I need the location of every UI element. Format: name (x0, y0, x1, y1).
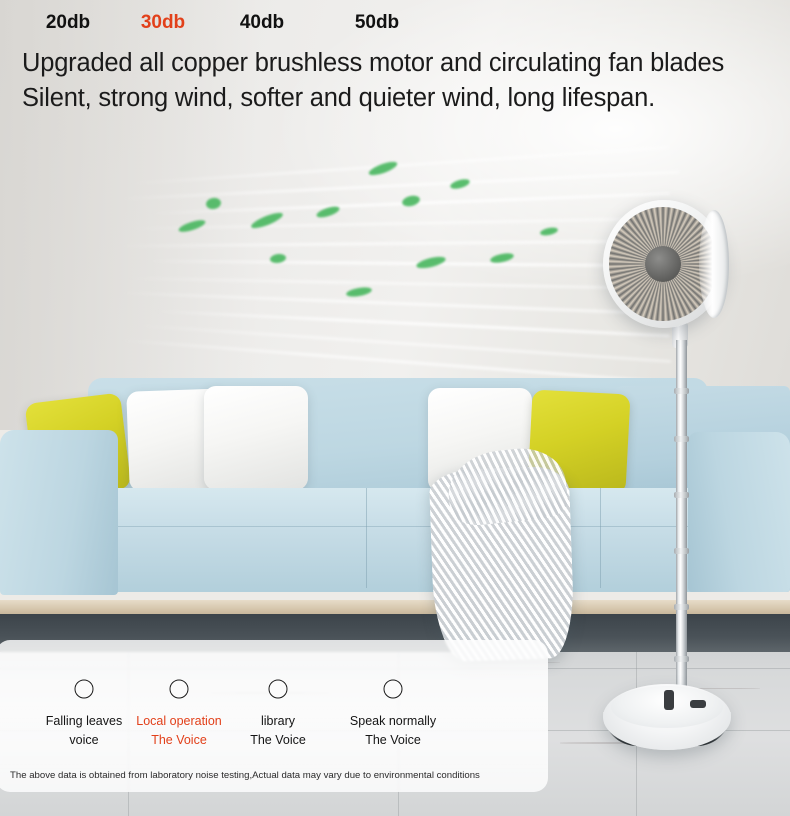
leaf-icon (367, 159, 398, 178)
noise-marker-40db[interactable] (269, 680, 288, 699)
airflow-streak (128, 277, 674, 290)
headline-line-2: Silent, strong wind, softer and quieter … (22, 81, 767, 116)
noise-caption-30db: Local operationThe Voice (136, 712, 221, 750)
noise-caption-50db: Speak normallyThe Voice (350, 712, 436, 750)
db-label-40db: 40db (240, 12, 284, 34)
cushion-seam-2 (600, 488, 601, 588)
caption-line-1: library (250, 712, 306, 731)
leaf-icon (346, 286, 373, 298)
sofa-seat (10, 488, 790, 592)
leaf-icon (449, 177, 470, 190)
seat-seam (18, 526, 778, 527)
leaf-icon (401, 194, 421, 208)
caption-line-1: Speak normally (350, 712, 436, 731)
db-label-30db: 30db (141, 12, 185, 34)
leaf-icon (205, 197, 222, 210)
sofa-arm-right (688, 432, 790, 592)
sofa (0, 368, 790, 626)
noise-marker-50db[interactable] (384, 680, 403, 699)
sofa-arm-left (0, 430, 118, 595)
base-slot-2 (690, 700, 706, 708)
pole-joint-1 (674, 388, 689, 394)
noise-caption-20db: Falling leavesvoice (46, 712, 122, 750)
noise-marker-20db[interactable] (75, 680, 94, 699)
headline-block: Upgraded all copper brushless motor and … (22, 46, 767, 116)
caption-line-2: The Voice (136, 731, 221, 750)
leaf-icon (539, 226, 558, 237)
cushion-seam-1 (366, 488, 367, 588)
caption-line-2: voice (46, 731, 122, 750)
noise-marker-30db[interactable] (170, 680, 189, 699)
db-label-20db: 20db (46, 12, 90, 34)
pole-joint-4 (674, 548, 689, 554)
caption-line-1: Falling leaves (46, 712, 122, 731)
base-slot-1 (664, 690, 674, 710)
db-label-row: 20db30db40db50db (0, 12, 552, 34)
product-feature-image: Upgraded all copper brushless motor and … (0, 0, 790, 816)
airflow-streak (131, 146, 670, 185)
caption-line-2: The Voice (350, 731, 436, 750)
leaf-icon (250, 210, 285, 231)
noise-caption-40db: libraryThe Voice (250, 712, 306, 750)
fan-side-housing (699, 210, 729, 318)
caption-line-2: The Voice (250, 731, 306, 750)
caption-line-1: Local operation (136, 712, 221, 731)
pole-joint-2 (674, 436, 689, 442)
db-label-50db: 50db (355, 12, 399, 34)
pillow-white-2 (204, 386, 308, 490)
leaf-icon (415, 255, 446, 271)
pole-joint-5 (674, 604, 689, 610)
pole-joint-6 (674, 656, 689, 662)
fan-head (595, 196, 735, 336)
headline-line-1: Upgraded all copper brushless motor and … (22, 46, 767, 81)
sofa-wood-base (0, 600, 790, 614)
disclaimer-text: The above data is obtained from laborato… (10, 770, 545, 781)
pole-joint-3 (674, 492, 689, 498)
fan-hub (645, 246, 681, 282)
